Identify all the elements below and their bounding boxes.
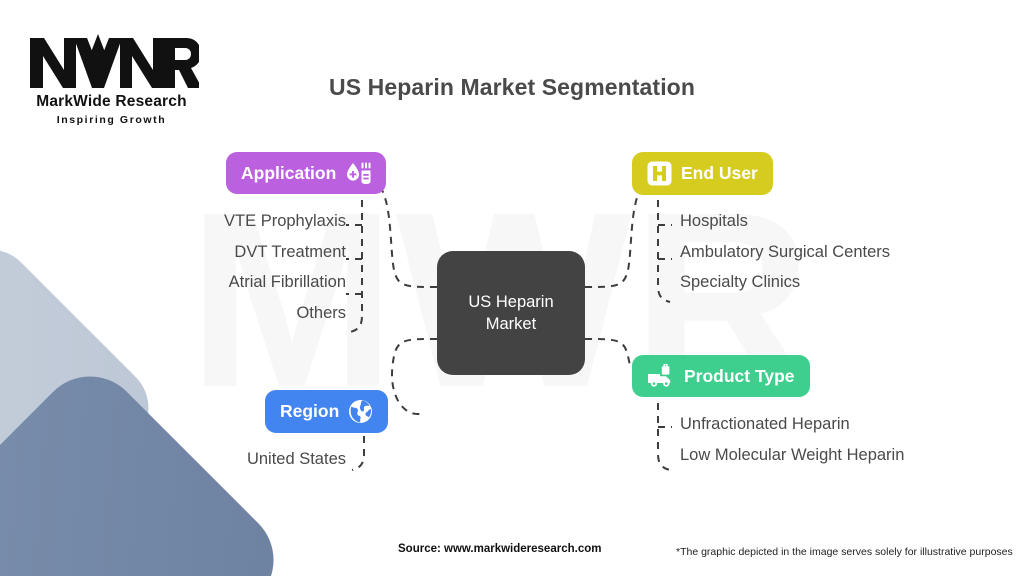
branch-label-region: Region <box>280 401 339 422</box>
source-credit: Source: www.markwideresearch.com <box>398 543 601 555</box>
connector-region <box>392 339 437 414</box>
list-item: Atrial Fibrillation <box>0 273 346 292</box>
leaf-list-application: VTE Prophylaxis DVT Treatment Atrial Fib… <box>0 212 346 334</box>
leaf-list-producttype: Unfractionated Heparin Low Molecular Wei… <box>680 415 904 476</box>
list-item: United States <box>0 450 346 469</box>
center-node-line1: US Heparin <box>468 293 553 311</box>
spine-application <box>350 200 362 332</box>
spine-region <box>352 436 364 470</box>
list-item: VTE Prophylaxis <box>0 212 346 231</box>
list-item: Hospitals <box>680 212 890 231</box>
disclaimer-note: *The graphic depicted in the image serve… <box>676 546 1013 558</box>
center-node: US Heparin Market <box>437 251 585 375</box>
branch-label-enduser: End User <box>681 163 758 184</box>
list-item: Others <box>0 304 346 323</box>
globe-icon <box>348 399 373 424</box>
spine-producttype <box>658 403 670 470</box>
delivery-truck-icon <box>647 364 675 388</box>
branch-badge-producttype[interactable]: Product Type <box>632 355 810 397</box>
list-item: Specialty Clinics <box>680 273 890 292</box>
spine-enduser <box>658 200 670 302</box>
list-item: Low Molecular Weight Heparin <box>680 446 904 465</box>
infographic-canvas: MWR MarkWide Research Inspiring Growth U… <box>0 0 1024 576</box>
branch-badge-application[interactable]: Application <box>226 152 386 194</box>
list-item: Unfractionated Heparin <box>680 415 904 434</box>
list-item: Ambulatory Surgical Centers <box>680 243 890 262</box>
blood-test-icon <box>345 161 371 185</box>
branch-label-producttype: Product Type <box>684 366 795 387</box>
center-node-line2: Market <box>486 315 536 333</box>
branch-badge-region[interactable]: Region <box>265 390 388 433</box>
list-item: DVT Treatment <box>0 243 346 262</box>
leaf-list-enduser: Hospitals Ambulatory Surgical Centers Sp… <box>680 212 890 304</box>
hospital-icon <box>647 161 672 186</box>
leaf-list-region: United States <box>0 450 346 469</box>
branch-badge-enduser[interactable]: End User <box>632 152 773 195</box>
branch-label-application: Application <box>241 163 336 184</box>
